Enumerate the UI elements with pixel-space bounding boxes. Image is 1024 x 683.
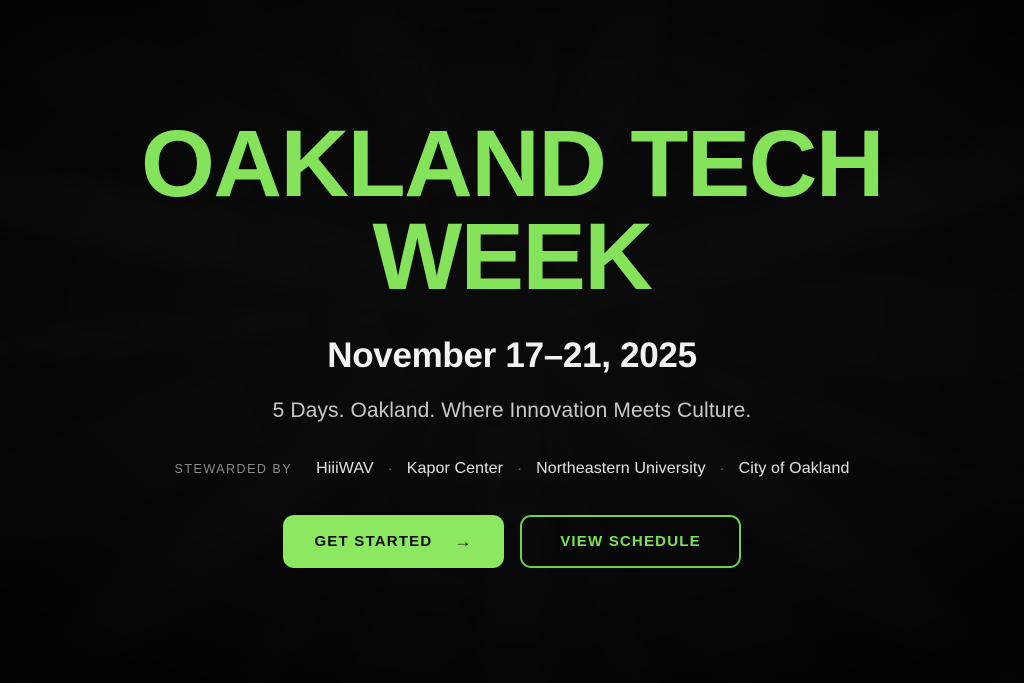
stewarded-by-label: STEWARDED BY: [175, 462, 293, 476]
get-started-label: GET STARTED: [314, 533, 432, 550]
stewards-row: STEWARDED BY HiiiWAV · Kapor Center · No…: [175, 460, 850, 478]
separator-dot-icon: ·: [720, 460, 725, 477]
get-started-button[interactable]: GET STARTED →: [283, 515, 504, 568]
hero-content: OAKLAND TECH WEEK November 17–21, 2025 5…: [0, 0, 1024, 683]
steward-city-of-oakland[interactable]: City of Oakland: [739, 460, 850, 478]
hero-section: OAKLAND TECH WEEK November 17–21, 2025 5…: [0, 0, 1024, 683]
page-title: OAKLAND TECH WEEK: [102, 118, 922, 304]
steward-kapor-center[interactable]: Kapor Center: [407, 460, 503, 478]
cta-button-row: GET STARTED → VIEW SCHEDULE: [283, 515, 741, 568]
arrow-right-icon: →: [454, 533, 472, 550]
event-tagline: 5 Days. Oakland. Where Innovation Meets …: [273, 399, 752, 423]
view-schedule-label: VIEW SCHEDULE: [560, 533, 701, 550]
event-date: November 17–21, 2025: [327, 336, 697, 376]
steward-hiiiwav[interactable]: HiiiWAV: [316, 460, 374, 478]
headline-line-1: OAKLAND TECH: [102, 118, 922, 211]
separator-dot-icon: ·: [517, 460, 522, 477]
view-schedule-button[interactable]: VIEW SCHEDULE: [520, 515, 741, 568]
steward-northeastern-university[interactable]: Northeastern University: [536, 460, 705, 478]
headline-line-2: WEEK: [102, 211, 922, 304]
separator-dot-icon: ·: [388, 460, 393, 477]
